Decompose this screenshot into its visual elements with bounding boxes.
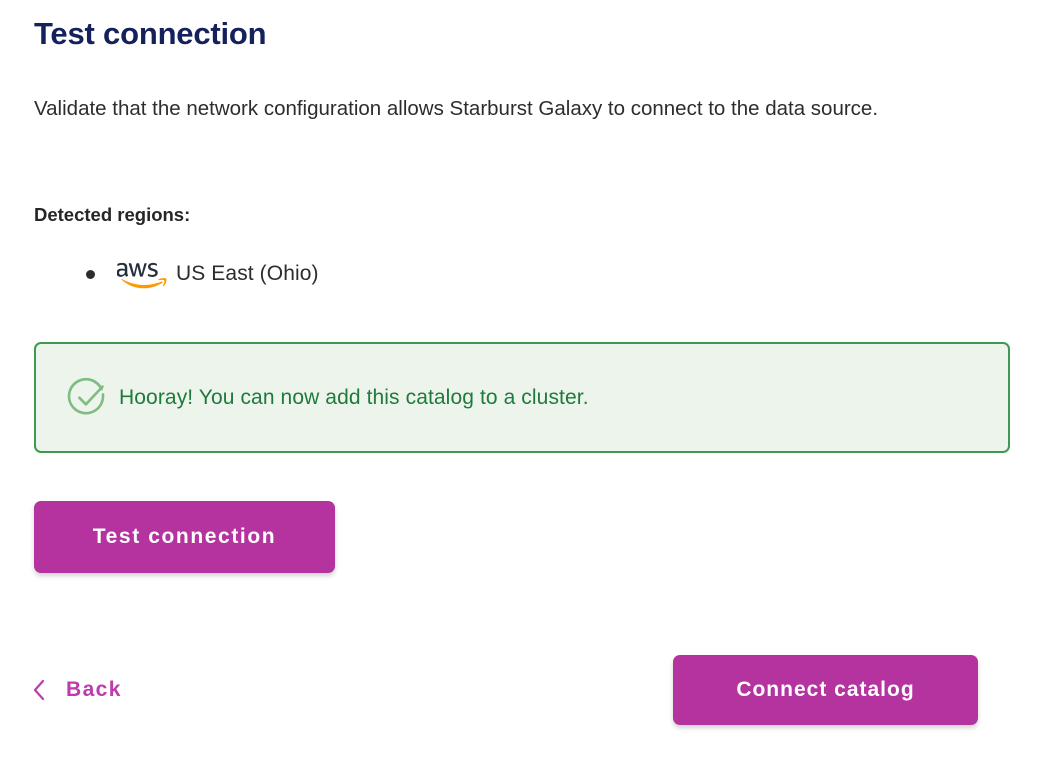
- circle-check-icon: [67, 377, 109, 419]
- connect-catalog-button[interactable]: Connect catalog: [673, 655, 978, 725]
- status-banner-success: Hooray! You can now add this catalog to …: [34, 342, 1010, 453]
- bullet-icon: [86, 270, 95, 279]
- test-connection-button[interactable]: Test connection: [34, 501, 335, 573]
- chevron-left-icon: [32, 679, 46, 701]
- back-button[interactable]: Back: [32, 671, 122, 709]
- detected-regions-list: US East (Ohio): [34, 256, 319, 292]
- status-banner-text: Hooray! You can now add this catalog to …: [119, 383, 589, 413]
- list-item: US East (Ohio): [34, 256, 319, 292]
- aws-logo-icon: [117, 259, 167, 289]
- detected-regions-label: Detected regions:: [34, 202, 190, 228]
- test-connection-step: Test connection Validate that the networ…: [0, 0, 1044, 778]
- back-button-label: Back: [66, 678, 122, 702]
- region-name: US East (Ohio): [176, 260, 319, 288]
- intro-description: Validate that the network configuration …: [34, 85, 994, 133]
- page-title: Test connection: [34, 14, 266, 54]
